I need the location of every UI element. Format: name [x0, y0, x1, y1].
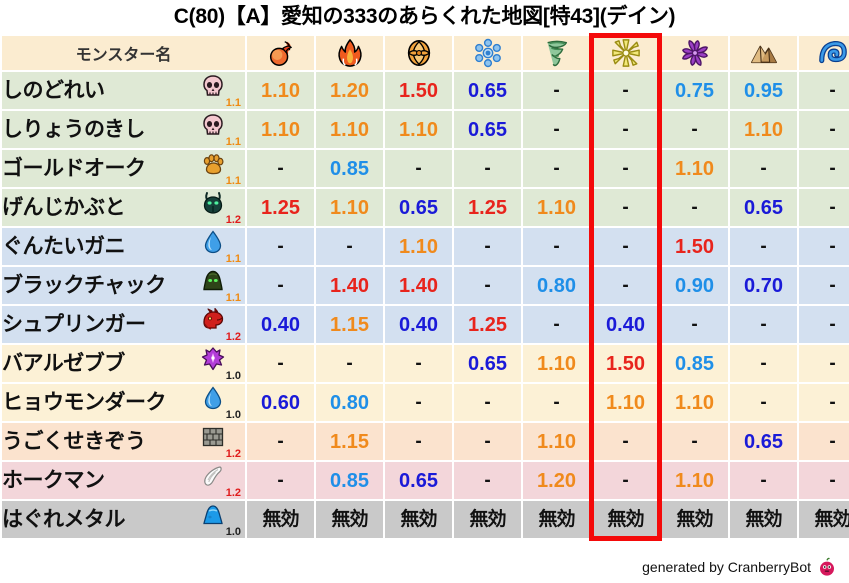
brick-icon	[201, 425, 225, 449]
resistance-cell[interactable]: -	[799, 423, 849, 460]
resistance-cell[interactable]: -	[799, 267, 849, 304]
table-row[interactable]: うごくせきぞう1.2-1.15--1.10--0.65-	[2, 423, 849, 460]
resistance-value: -	[760, 392, 766, 413]
resistance-value: -	[829, 314, 835, 335]
monster-name-cell[interactable]: はぐれメタル1.0	[2, 501, 245, 538]
resistance-value: -	[622, 197, 628, 218]
resistance-cell[interactable]: -	[523, 111, 590, 148]
resistance-value: 0.65	[468, 353, 507, 375]
resistance-table-page: C(80)【A】愛知の333のあらくれた地図[特43](デイン) モンスター名し…	[0, 0, 849, 583]
table-body: モンスター名しのどれい1.11.101.201.500.65--0.750.95…	[2, 36, 849, 538]
resistance-value: -	[829, 197, 835, 218]
resistance-cell[interactable]: -	[523, 150, 590, 187]
resistance-value: 0.95	[744, 80, 783, 102]
resistance-value: -	[622, 470, 628, 491]
resistance-cell[interactable]: -	[247, 267, 314, 304]
resistance-value: -	[622, 80, 628, 101]
resistance-cell[interactable]: 無効	[247, 501, 314, 538]
resistance-value: -	[829, 119, 835, 140]
resistance-cell[interactable]: -	[730, 345, 797, 382]
resistance-value: -	[553, 392, 559, 413]
resistance-cell[interactable]: 1.10	[247, 111, 314, 148]
resistance-cell[interactable]: 0.85	[316, 150, 383, 187]
footer-credit: generated by CranberryBot	[642, 557, 837, 577]
monster-multiplier: 1.2	[226, 332, 241, 343]
resistance-value: 1.10	[675, 158, 714, 180]
table-row[interactable]: ヒョウモンダーク1.00.600.80---1.101.10--	[2, 384, 849, 421]
resistance-value: -	[622, 236, 628, 257]
resistance-value: 1.10	[330, 197, 369, 219]
resistance-value: 無効	[262, 509, 298, 530]
resistance-cell[interactable]: -	[454, 423, 521, 460]
resistance-value: -	[277, 275, 283, 296]
resistance-value: 0.75	[675, 80, 714, 102]
resistance-value: 1.10	[537, 431, 576, 453]
resistance-cell[interactable]: -	[592, 189, 659, 226]
resistance-value: 1.25	[468, 197, 507, 219]
resistance-cell[interactable]: -	[661, 306, 728, 343]
resistance-value: -	[760, 353, 766, 374]
resistance-value: 0.65	[468, 80, 507, 102]
resistance-value: -	[277, 470, 283, 491]
resistance-cell[interactable]: -	[592, 111, 659, 148]
resistance-cell[interactable]: 0.95	[730, 72, 797, 109]
resistance-cell[interactable]: -	[592, 228, 659, 265]
resistance-value: -	[277, 158, 283, 179]
resistance-value: 0.80	[330, 392, 369, 414]
waterdrop-icon	[201, 230, 225, 254]
resistance-value: -	[691, 431, 697, 452]
resistance-value: 0.60	[261, 392, 300, 414]
resistance-cell[interactable]: -	[316, 345, 383, 382]
resistance-cell[interactable]: 無効	[799, 501, 849, 538]
monster-name-cell[interactable]: ぐんたいガニ1.1	[2, 228, 245, 265]
monster-name-cell[interactable]: しりょうのきし1.1	[2, 111, 245, 148]
page-title: C(80)【A】愛知の333のあらくれた地図[特43](デイン)	[0, 0, 849, 34]
resistance-value: 0.40	[399, 314, 438, 336]
monster-name-cell[interactable]: ホークマン1.2	[2, 462, 245, 499]
monster-multiplier: 1.1	[226, 176, 241, 187]
resistance-cell[interactable]: -	[730, 150, 797, 187]
resistance-cell[interactable]: 1.50	[385, 72, 452, 109]
resistance-value: -	[829, 470, 835, 491]
table-wrapper: モンスター名しのどれい1.11.101.201.500.65--0.750.95…	[0, 34, 849, 540]
resistance-cell[interactable]: 0.65	[454, 72, 521, 109]
resistance-cell[interactable]: 無効	[730, 501, 797, 538]
resistance-value: 0.65	[744, 197, 783, 219]
header-element-wind[interactable]	[523, 36, 590, 70]
table-row[interactable]: シュプリンガー1.20.401.150.401.25-0.40---	[2, 306, 849, 343]
resistance-value: -	[553, 80, 559, 101]
header-element-earth[interactable]	[730, 36, 797, 70]
resistance-cell[interactable]: 1.10	[385, 228, 452, 265]
resistance-cell[interactable]: 1.10	[247, 72, 314, 109]
resistance-cell[interactable]: -	[247, 345, 314, 382]
resistance-value: 無効	[469, 509, 505, 530]
resistance-cell[interactable]: -	[454, 267, 521, 304]
resistance-cell[interactable]: 0.65	[454, 111, 521, 148]
resistance-cell[interactable]: -	[454, 150, 521, 187]
resistance-cell[interactable]: -	[247, 423, 314, 460]
resistance-value: 1.10	[399, 236, 438, 258]
resistance-cell[interactable]: -	[454, 462, 521, 499]
resistance-cell[interactable]: 0.40	[385, 306, 452, 343]
resistance-value: -	[484, 470, 490, 491]
monster-name-cell[interactable]: ゴールドオーク1.1	[2, 150, 245, 187]
resistance-value: -	[622, 158, 628, 179]
resistance-cell[interactable]: 無効	[592, 501, 659, 538]
resistance-cell[interactable]: 1.25	[454, 189, 521, 226]
cranberry-icon	[817, 557, 837, 577]
resistance-cell[interactable]: -	[523, 228, 590, 265]
resistance-value: -	[691, 197, 697, 218]
skull-icon	[201, 74, 225, 98]
resistance-cell[interactable]: 0.65	[454, 345, 521, 382]
resistance-value: -	[829, 353, 835, 374]
resistance-cell[interactable]: -	[385, 384, 452, 421]
resistance-cell[interactable]: -	[523, 306, 590, 343]
resistance-cell[interactable]: 1.20	[316, 72, 383, 109]
resistance-cell[interactable]: -	[799, 111, 849, 148]
resistance-value: 1.40	[330, 275, 369, 297]
resistance-value: -	[484, 275, 490, 296]
resistance-value: 1.15	[330, 431, 369, 453]
resistance-cell[interactable]: -	[799, 72, 849, 109]
resistance-value: 1.50	[399, 80, 438, 102]
resistance-cell[interactable]: 1.25	[247, 189, 314, 226]
resistance-cell[interactable]: -	[799, 228, 849, 265]
resistance-cell[interactable]: 0.80	[523, 267, 590, 304]
resistance-cell[interactable]: -	[799, 462, 849, 499]
resistance-cell[interactable]: -	[592, 150, 659, 187]
table-header-row: モンスター名	[2, 36, 849, 70]
resistance-cell[interactable]: 1.10	[661, 384, 728, 421]
explosion-icon	[404, 38, 434, 68]
resistance-cell[interactable]: 無効	[661, 501, 728, 538]
resistance-cell[interactable]: 0.80	[316, 384, 383, 421]
monster-multiplier: 1.0	[226, 371, 241, 382]
resistance-value: 0.70	[744, 275, 783, 297]
resistance-value: -	[277, 236, 283, 257]
resistance-cell[interactable]: -	[730, 228, 797, 265]
resistance-value: 無効	[400, 509, 436, 530]
resistance-value: 1.25	[261, 197, 300, 219]
resistance-value: 無効	[607, 509, 643, 530]
resistance-value: -	[622, 431, 628, 452]
wing-icon	[201, 464, 225, 488]
waterdrop-icon	[201, 386, 225, 410]
resistance-cell[interactable]: 無効	[385, 501, 452, 538]
resistance-cell[interactable]: 0.65	[730, 189, 797, 226]
resistance-value: -	[553, 314, 559, 335]
header-element-water[interactable]	[799, 36, 849, 70]
monster-name-cell[interactable]: バアルゼブブ1.0	[2, 345, 245, 382]
resistance-value: 1.10	[744, 119, 783, 141]
table-row[interactable]: ホークマン1.2-0.850.65-1.20-1.10--	[2, 462, 849, 499]
paw-icon	[201, 152, 225, 176]
resistance-value: -	[346, 353, 352, 374]
resistance-cell[interactable]: 0.75	[661, 72, 728, 109]
resistance-value: -	[829, 236, 835, 257]
resistance-cell[interactable]: -	[523, 72, 590, 109]
resistance-value: -	[277, 353, 283, 374]
header-element-ice[interactable]	[454, 36, 521, 70]
resistance-cell[interactable]: 1.20	[523, 462, 590, 499]
resistance-cell[interactable]: 1.50	[592, 345, 659, 382]
resistance-value: 1.10	[537, 197, 576, 219]
resistance-cell[interactable]: 1.10	[661, 462, 728, 499]
resistance-value: 1.15	[330, 314, 369, 336]
resistance-value: 0.40	[261, 314, 300, 336]
header-element-dark[interactable]	[661, 36, 728, 70]
monster-multiplier: 1.0	[226, 527, 241, 538]
resistance-value: 1.10	[261, 80, 300, 102]
resistance-value: -	[415, 431, 421, 452]
resistance-value: -	[829, 392, 835, 413]
resistance-value: -	[760, 236, 766, 257]
resistance-value: -	[622, 275, 628, 296]
monster-multiplier: 1.1	[226, 98, 241, 109]
monster-name-cell[interactable]: しのどれい1.1	[2, 72, 245, 109]
mountain-icon	[749, 38, 779, 68]
resistance-value: 1.10	[537, 353, 576, 375]
header-element-explosion[interactable]	[385, 36, 452, 70]
monster-name-cell[interactable]: うごくせきぞう1.2	[2, 423, 245, 460]
resistance-value: -	[829, 275, 835, 296]
resistance-value: 0.65	[744, 431, 783, 453]
table-row[interactable]: しりょうのきし1.11.101.101.100.65---1.10-	[2, 111, 849, 148]
resistance-value: 0.90	[675, 275, 714, 297]
dragon-red-icon	[201, 308, 225, 332]
resistance-value: 0.80	[537, 275, 576, 297]
wave-icon	[818, 38, 848, 68]
resistance-value: 1.20	[537, 470, 576, 492]
table-row[interactable]: バアルゼブブ1.0---0.651.101.500.85--	[2, 345, 849, 382]
resistance-value: -	[484, 158, 490, 179]
resistance-cell[interactable]: -	[730, 462, 797, 499]
resistance-cell[interactable]: -	[661, 423, 728, 460]
resistance-cell[interactable]: 無効	[316, 501, 383, 538]
resistance-value: -	[622, 119, 628, 140]
resistance-value: -	[760, 158, 766, 179]
resistance-cell[interactable]: 無効	[523, 501, 590, 538]
insect-icon	[201, 191, 225, 215]
resistance-cell[interactable]: -	[592, 267, 659, 304]
resistance-cell[interactable]: -	[799, 306, 849, 343]
resistance-value: -	[484, 431, 490, 452]
resistance-value: -	[415, 353, 421, 374]
resistance-cell[interactable]: 1.40	[385, 267, 452, 304]
resistance-value: -	[691, 314, 697, 335]
resistance-cell[interactable]: 1.15	[316, 306, 383, 343]
resistance-cell[interactable]: 1.10	[661, 150, 728, 187]
resistance-cell[interactable]: -	[661, 189, 728, 226]
resistance-cell[interactable]: 0.90	[661, 267, 728, 304]
tornado-icon	[542, 38, 572, 68]
resistance-value: 0.65	[399, 470, 438, 492]
resistance-cell[interactable]: -	[385, 345, 452, 382]
resistance-value: -	[760, 470, 766, 491]
resistance-cell[interactable]: 1.10	[592, 384, 659, 421]
resistance-value: 1.10	[261, 119, 300, 141]
resistance-cell[interactable]: 0.40	[247, 306, 314, 343]
table-row[interactable]: げんじかぶと1.21.251.100.651.251.10--0.65-	[2, 189, 849, 226]
resistance-value: 無効	[745, 509, 781, 530]
resistance-table: モンスター名しのどれい1.11.101.201.500.65--0.750.95…	[0, 34, 849, 540]
resistance-value: 0.85	[330, 470, 369, 492]
resistance-value: -	[553, 158, 559, 179]
resistance-cell[interactable]: 0.65	[385, 189, 452, 226]
resistance-cell[interactable]: 1.25	[454, 306, 521, 343]
monster-name-cell[interactable]: げんじかぶと1.2	[2, 189, 245, 226]
resistance-value: 1.50	[606, 353, 645, 375]
resistance-cell[interactable]: 0.60	[247, 384, 314, 421]
resistance-cell[interactable]: -	[454, 384, 521, 421]
demon-purple-icon	[201, 347, 225, 371]
resistance-value: -	[691, 119, 697, 140]
resistance-value: 1.10	[675, 470, 714, 492]
resistance-value: 無効	[331, 509, 367, 530]
fireball-icon	[266, 38, 296, 68]
resistance-cell[interactable]: -	[592, 423, 659, 460]
resistance-value: 無効	[538, 509, 574, 530]
slime-blue-icon	[201, 503, 225, 527]
resistance-cell[interactable]: -	[523, 384, 590, 421]
monster-multiplier: 1.2	[226, 215, 241, 226]
resistance-cell[interactable]: -	[247, 228, 314, 265]
resistance-cell[interactable]: 0.85	[316, 462, 383, 499]
resistance-value: 0.85	[675, 353, 714, 375]
resistance-cell[interactable]: -	[799, 150, 849, 187]
resistance-value: 1.10	[399, 119, 438, 141]
monster-multiplier: 1.0	[226, 410, 241, 421]
resistance-cell[interactable]: 1.10	[523, 345, 590, 382]
monster-name-cell[interactable]: ブラックチャック1.1	[2, 267, 245, 304]
resistance-cell[interactable]: -	[592, 72, 659, 109]
resistance-cell[interactable]: 0.40	[592, 306, 659, 343]
resistance-value: 1.10	[606, 392, 645, 414]
resistance-value: -	[415, 158, 421, 179]
monster-name-cell[interactable]: シュプリンガー1.2	[2, 306, 245, 343]
resistance-value: -	[829, 158, 835, 179]
resistance-cell[interactable]: 1.10	[730, 111, 797, 148]
resistance-value: 無効	[814, 509, 849, 530]
resistance-value: -	[346, 236, 352, 257]
table-row[interactable]: ブラックチャック1.1-1.401.40-0.80-0.900.70-	[2, 267, 849, 304]
resistance-value: 1.40	[399, 275, 438, 297]
monster-multiplier: 1.1	[226, 293, 241, 304]
header-element-fireball[interactable]	[247, 36, 314, 70]
table-row[interactable]: しのどれい1.11.101.201.500.65--0.750.95-	[2, 72, 849, 109]
resistance-value: 0.65	[399, 197, 438, 219]
resistance-value: -	[760, 314, 766, 335]
resistance-value: 1.25	[468, 314, 507, 336]
monster-multiplier: 1.1	[226, 254, 241, 265]
resistance-value: -	[553, 119, 559, 140]
resistance-value: -	[277, 431, 283, 452]
resistance-value: -	[829, 80, 835, 101]
resistance-cell[interactable]: 1.10	[385, 111, 452, 148]
monster-multiplier: 1.2	[226, 449, 241, 460]
footer-text: generated by CranberryBot	[642, 559, 811, 575]
header-element-light[interactable]	[592, 36, 659, 70]
resistance-cell[interactable]: 1.10	[316, 189, 383, 226]
resistance-value: 0.40	[606, 314, 645, 336]
resistance-cell[interactable]: -	[799, 189, 849, 226]
resistance-value: 1.20	[330, 80, 369, 102]
resistance-cell[interactable]: -	[730, 384, 797, 421]
resistance-cell[interactable]: -	[316, 228, 383, 265]
table-row[interactable]: はぐれメタル1.0無効無効無効無効無効無効無効無効無効	[2, 501, 849, 538]
resistance-value: 1.10	[675, 392, 714, 414]
resistance-cell[interactable]: 1.10	[523, 423, 590, 460]
pinwheel-icon	[680, 38, 710, 68]
resistance-value: 0.65	[468, 119, 507, 141]
resistance-cell[interactable]: 0.85	[661, 345, 728, 382]
table-row[interactable]: ぐんたいガニ1.1--1.10---1.50--	[2, 228, 849, 265]
resistance-cell[interactable]: -	[592, 462, 659, 499]
resistance-cell[interactable]: -	[730, 306, 797, 343]
resistance-cell[interactable]: 1.15	[316, 423, 383, 460]
resistance-cell[interactable]: 0.70	[730, 267, 797, 304]
snowflake-icon	[473, 38, 503, 68]
resistance-cell[interactable]: -	[247, 462, 314, 499]
resistance-cell[interactable]: -	[454, 228, 521, 265]
resistance-cell[interactable]: -	[799, 384, 849, 421]
resistance-cell[interactable]: 0.65	[730, 423, 797, 460]
resistance-cell[interactable]: -	[385, 423, 452, 460]
skull-icon	[201, 113, 225, 137]
resistance-cell[interactable]: -	[385, 150, 452, 187]
resistance-cell[interactable]: -	[661, 111, 728, 148]
resistance-value: -	[415, 392, 421, 413]
header-name-column: モンスター名	[2, 36, 245, 70]
resistance-value: 0.85	[330, 158, 369, 180]
resistance-cell[interactable]: -	[247, 150, 314, 187]
resistance-value: -	[484, 392, 490, 413]
slime-dark-icon	[201, 269, 225, 293]
resistance-value: 1.10	[330, 119, 369, 141]
resistance-value: -	[484, 236, 490, 257]
flame-icon	[335, 38, 365, 68]
resistance-cell[interactable]: 1.50	[661, 228, 728, 265]
monster-multiplier: 1.2	[226, 488, 241, 499]
resistance-cell[interactable]: 1.10	[316, 111, 383, 148]
resistance-value: -	[829, 431, 835, 452]
header-element-flame[interactable]	[316, 36, 383, 70]
resistance-value: 1.50	[675, 236, 714, 258]
monster-multiplier: 1.1	[226, 137, 241, 148]
monster-name-cell[interactable]: ヒョウモンダーク1.0	[2, 384, 245, 421]
resistance-cell[interactable]: -	[799, 345, 849, 382]
resistance-cell[interactable]: 無効	[454, 501, 521, 538]
resistance-cell[interactable]: 0.65	[385, 462, 452, 499]
resistance-cell[interactable]: 1.10	[523, 189, 590, 226]
table-row[interactable]: ゴールドオーク1.1-0.85----1.10--	[2, 150, 849, 187]
resistance-value: 無効	[676, 509, 712, 530]
resistance-value: -	[553, 236, 559, 257]
resistance-cell[interactable]: 1.40	[316, 267, 383, 304]
starburst-icon	[611, 38, 641, 68]
